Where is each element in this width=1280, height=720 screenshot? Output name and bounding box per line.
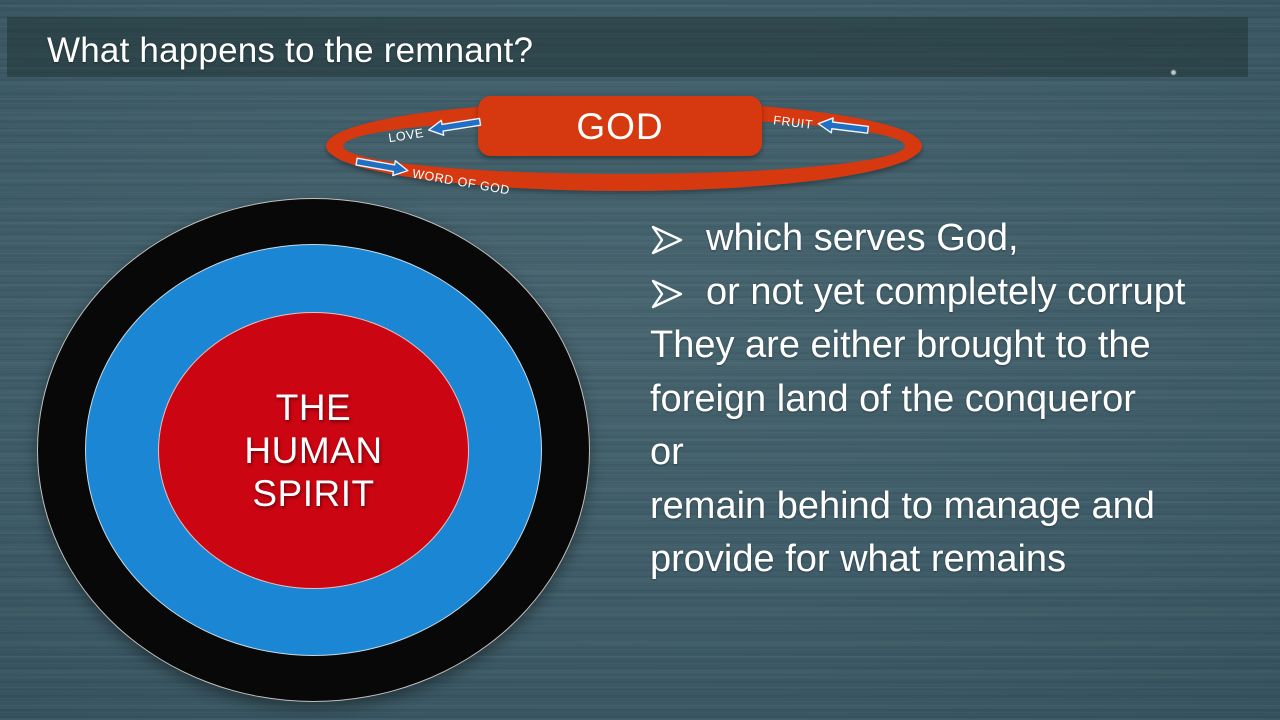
body-line: provide for what remains — [650, 533, 1262, 587]
body-line-text: provide for what remains — [650, 533, 1066, 587]
god-box-label: GOD — [576, 108, 663, 145]
body-line-text: or — [650, 426, 684, 480]
background-speck-artifact — [1171, 70, 1176, 75]
body-line: or — [650, 426, 1262, 480]
page-title: What happens to the remnant? — [47, 33, 533, 68]
arrowhead-bullet-icon — [650, 266, 706, 320]
body-line-text: which serves God, — [706, 212, 1019, 266]
human-spirit-target-diagram: THE HUMAN SPIRIT — [37, 198, 590, 702]
god-cycle-diagram: GOD LOVE FRUIT WORD — [318, 88, 932, 200]
body-line-text: They are either brought to the — [650, 319, 1151, 373]
target-inner-circle: THE HUMAN SPIRIT — [158, 312, 469, 589]
target-center-label-line-1: THE — [244, 386, 382, 429]
body-line: foreign land of the conqueror — [650, 373, 1262, 427]
body-bullet-item: or not yet completely corrupt — [650, 266, 1262, 320]
body-line: remain behind to manage and — [650, 480, 1262, 534]
body-text-block: which serves God, or not yet completely … — [650, 212, 1262, 587]
cycle-node-fruit-label: FRUIT — [773, 114, 814, 131]
body-line-text: foreign land of the conqueror — [650, 373, 1136, 427]
body-bullet-item: which serves God, — [650, 212, 1262, 266]
arrowhead-bullet-icon — [650, 212, 706, 266]
body-line-text: remain behind to manage and — [650, 480, 1155, 534]
target-center-label-line-3: SPIRIT — [244, 472, 382, 515]
body-line: They are either brought to the — [650, 319, 1262, 373]
presentation-slide: What happens to the remnant? GOD LOVE FR… — [0, 0, 1280, 720]
body-line-text: or not yet completely corrupt — [706, 266, 1185, 320]
target-center-label-line-2: HUMAN — [244, 429, 382, 472]
slide-title-band: What happens to the remnant? — [7, 17, 1248, 77]
god-box: GOD — [478, 96, 762, 156]
target-center-label: THE HUMAN SPIRIT — [244, 386, 382, 516]
cycle-node-love-label: LOVE — [388, 127, 425, 145]
